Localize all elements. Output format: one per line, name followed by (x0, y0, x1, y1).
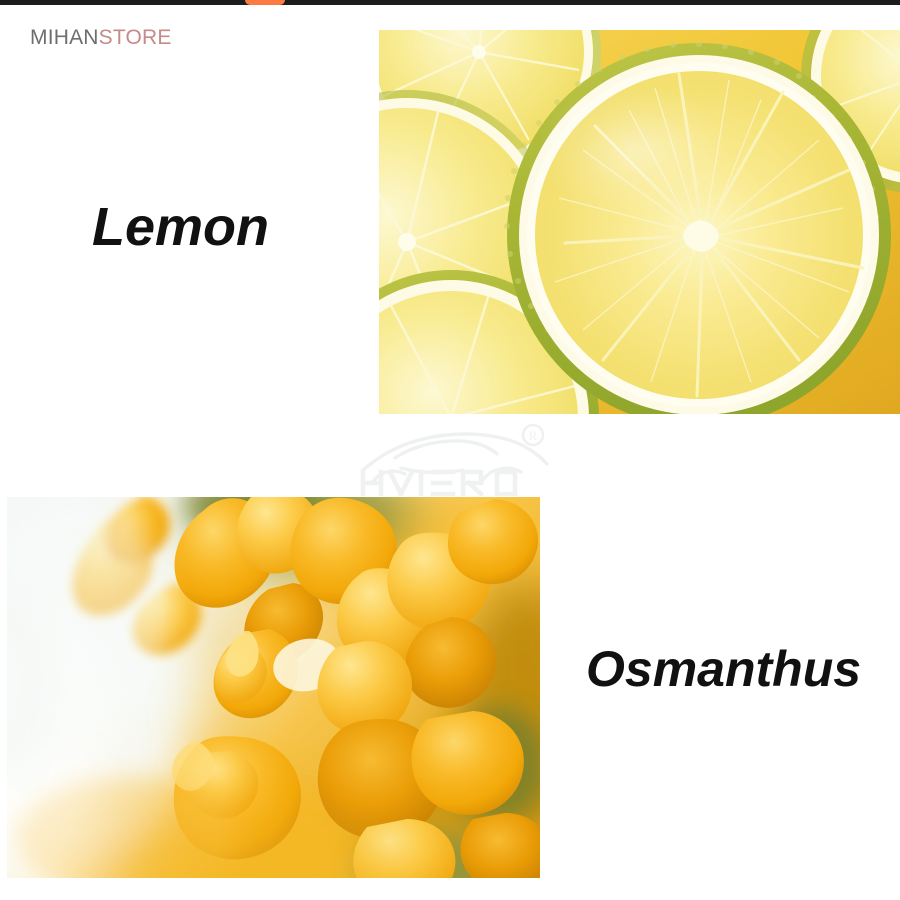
rounded-tab-notch-icon (245, 0, 285, 5)
car-silhouette-icon: R (357, 420, 563, 496)
product-scent-page: MIHANSTORE (0, 0, 900, 900)
variant-label-lemon: Lemon (92, 196, 269, 258)
watermark-hviero: R (357, 420, 563, 496)
variant-image-lemon (379, 30, 900, 414)
variant-label-osmanthus: Osmanthus (586, 640, 861, 698)
top-edge-bar (0, 0, 900, 5)
osmanthus-photo-illustration (7, 497, 540, 878)
brand-logo: MIHANSTORE (30, 26, 172, 50)
brand-logo-secondary: STORE (99, 26, 172, 49)
registered-mark-letter: R (529, 428, 538, 443)
brand-logo-primary: MIHAN (30, 26, 99, 49)
lemon-photo-illustration (379, 30, 900, 414)
variant-image-osmanthus (7, 497, 540, 878)
